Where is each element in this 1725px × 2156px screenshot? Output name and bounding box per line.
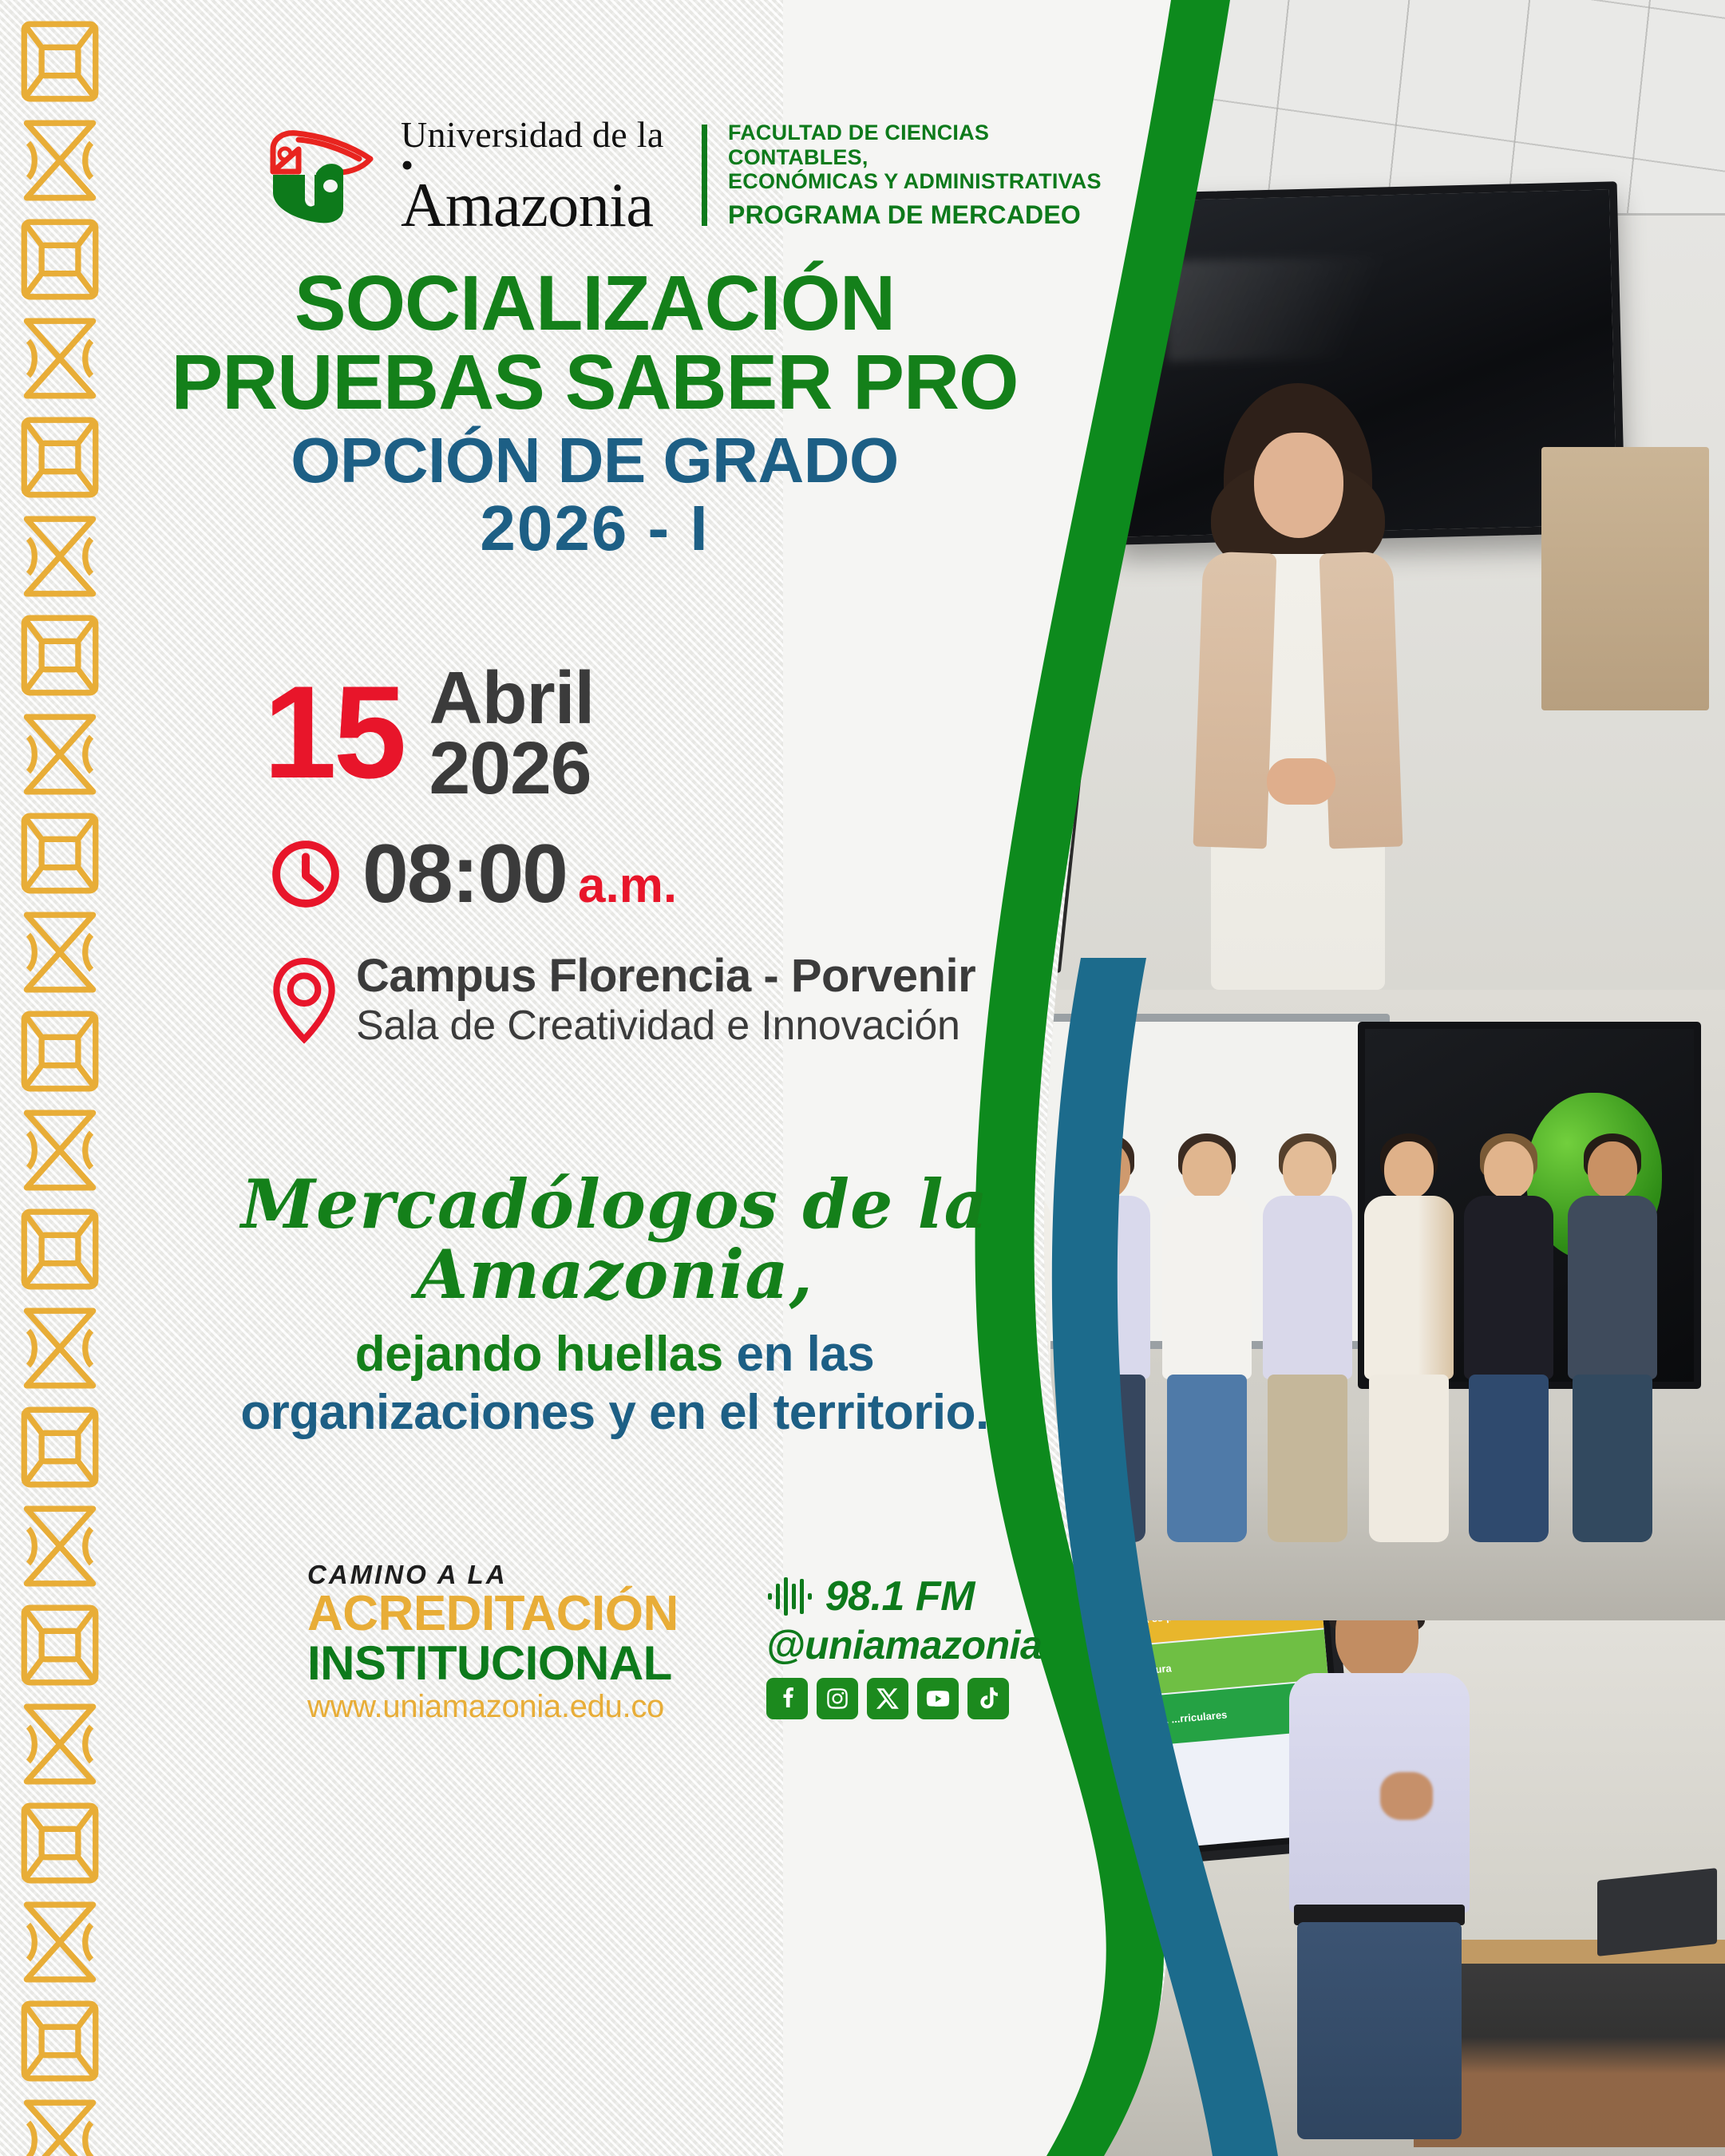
program-name: PROGRAMA DE MERCADEO [728, 201, 1126, 230]
motif-hourglass-icon [18, 905, 101, 999]
accreditation-main: ACREDITACIÓN [307, 1589, 679, 1639]
motif-rect-icon [18, 1004, 101, 1098]
poster-content: Universidad de la • Amazonia FACULTAD DE… [120, 0, 1126, 2156]
time-meridiem: a.m. [578, 858, 677, 913]
motif-rect-icon [18, 608, 101, 702]
motif-rect-icon [18, 1994, 101, 2088]
motif-rect-icon [18, 1796, 101, 1890]
slogan-line-1: Mercadólogos de la Amazonia, [120, 1169, 1110, 1310]
head [1335, 1620, 1418, 1681]
torso [1364, 1196, 1454, 1379]
beige-vest-right [1319, 552, 1403, 849]
event-date: 15 Abril 2026 [120, 563, 1126, 804]
faculty-block: FACULTAD DE CIENCIAS CONTABLES, ECONÓMIC… [728, 121, 1126, 230]
torso [1464, 1196, 1553, 1379]
motif-hourglass-icon [18, 1499, 101, 1593]
faculty-line2: ECONÓMICAS Y ADMINISTRATIVAS [728, 169, 1126, 193]
event-title: SOCIALIZACIÓN PRUEBAS SABER PRO OPCIÓN D… [120, 231, 1126, 562]
head [1588, 1141, 1637, 1199]
motif-rect-icon [18, 1598, 101, 1692]
legs [1573, 1375, 1652, 1542]
title-line-4: 2026 - I [152, 495, 1038, 563]
accreditation-block: CAMINO A LA ACREDITACIÓN INSTITUCIONAL w… [307, 1561, 679, 1723]
title-line-3: OPCIÓN DE GRADO [152, 427, 1038, 495]
man-figure [1262, 1620, 1501, 2139]
youtube-icon[interactable] [917, 1678, 959, 1719]
face [1254, 433, 1343, 538]
institution-header: Universidad de la • Amazonia FACULTAD DE… [120, 0, 1126, 231]
torso [1263, 1196, 1352, 1379]
torso [1162, 1196, 1252, 1379]
motif-hourglass-icon [18, 311, 101, 405]
event-location: Campus Florencia - Porvenir Sala de Crea… [120, 916, 1126, 1050]
slogan-line-3: organizaciones y en el territorio. [120, 1383, 1110, 1442]
ethnic-border-left [0, 0, 120, 2156]
motif-hourglass-icon [18, 113, 101, 208]
legs [1167, 1375, 1247, 1542]
time-value: 08:00 [362, 828, 567, 920]
person-4 [1260, 1141, 1355, 1541]
motif-hourglass-icon [18, 1103, 101, 1197]
room-name: Sala de Creatividad e Innovación [356, 1003, 975, 1050]
date-month: Abril [429, 663, 595, 733]
accreditation-pre: CAMINO A LA [307, 1561, 679, 1588]
university-wordmark: Universidad de la • Amazonia [401, 120, 679, 231]
person-7 [1565, 1141, 1660, 1541]
head [1182, 1141, 1232, 1199]
legs [1268, 1375, 1347, 1542]
social-handle: @uniamazonia [766, 1622, 1043, 1668]
slogan-line-2-blue: en las [737, 1327, 875, 1382]
poster-root: ...iones para Estudiantes ...á en la ...… [0, 0, 1725, 2156]
motif-rect-icon [18, 212, 101, 307]
instagram-icon[interactable] [817, 1678, 858, 1719]
date-year: 2026 [429, 733, 595, 803]
person-5 [1362, 1141, 1456, 1541]
slogan-line-2-green: dejando huellas [355, 1327, 737, 1382]
torso [1568, 1196, 1657, 1379]
motif-hourglass-icon [18, 1895, 101, 1989]
motif-rect-icon [18, 410, 101, 504]
title-line-1: SOCIALIZACIÓN [152, 264, 1038, 343]
woman-figure [1166, 383, 1430, 990]
motif-rect-icon [18, 1202, 101, 1296]
motif-hourglass-icon [18, 1301, 101, 1395]
motif-hourglass-icon [18, 707, 101, 801]
person-3 [1160, 1141, 1254, 1541]
motif-hourglass-icon [18, 1697, 101, 1791]
x-twitter-icon[interactable] [867, 1678, 908, 1719]
motif-rect-icon [18, 1400, 101, 1494]
motif-hourglass-icon [18, 509, 101, 603]
location-pin-icon [271, 956, 337, 1044]
event-time: 08:00a.m. [120, 804, 1126, 916]
location-text-group: Campus Florencia - Porvenir Sala de Crea… [356, 951, 975, 1050]
clock-icon [270, 838, 342, 910]
clasped-hands [1267, 758, 1335, 805]
title-line-2: PRUEBAS SABER PRO [152, 343, 1038, 422]
motif-rect-icon [18, 14, 101, 109]
venue-name: Campus Florencia - Porvenir [356, 951, 975, 1003]
uniamazonia-toucan-logo-icon [263, 125, 383, 225]
laptop [1597, 1868, 1717, 1956]
motif-hourglass-icon [18, 2093, 101, 2156]
faculty-line1: FACULTAD DE CIENCIAS CONTABLES, [728, 121, 1126, 168]
radio-frequency: 98.1 FM [825, 1572, 975, 1620]
accreditation-sub: INSTITUCIONAL [307, 1640, 679, 1687]
poster-footer: CAMINO A LA ACREDITACIÓN INSTITUCIONAL w… [120, 1442, 1126, 1723]
head [1484, 1141, 1533, 1199]
slogan-block: Mercadólogos de la Amazonia, dejando hue… [120, 1050, 1110, 1442]
person-6 [1462, 1141, 1556, 1541]
motif-rect-icon [18, 806, 101, 900]
social-icons [766, 1678, 1043, 1719]
date-day: 15 [263, 676, 404, 789]
website-url[interactable]: www.uniamazonia.edu.co [307, 1691, 679, 1723]
head [1283, 1141, 1332, 1199]
jeans [1297, 1922, 1462, 2139]
facebook-icon[interactable] [766, 1678, 808, 1719]
radio-row: 98.1 FM [766, 1572, 1043, 1620]
gesturing-hand [1380, 1772, 1433, 1820]
legs [1469, 1375, 1549, 1542]
beige-vest-left [1193, 552, 1277, 849]
wood-wall-panel [1541, 447, 1709, 710]
wordmark-line2: Amazonia [401, 180, 679, 231]
radio-waveform-icon [766, 1576, 816, 1617]
head [1384, 1141, 1434, 1199]
legs [1369, 1375, 1449, 1542]
slogan-line-2: dejando huellas en las [120, 1325, 1110, 1383]
date-month-year: Abril 2026 [429, 663, 595, 804]
shirt [1289, 1673, 1470, 1913]
tiktok-icon[interactable] [967, 1678, 1009, 1719]
vertical-rule [702, 125, 707, 226]
time-text-group: 08:00a.m. [362, 833, 677, 916]
social-block: 98.1 FM @uniamazonia [766, 1561, 1043, 1719]
